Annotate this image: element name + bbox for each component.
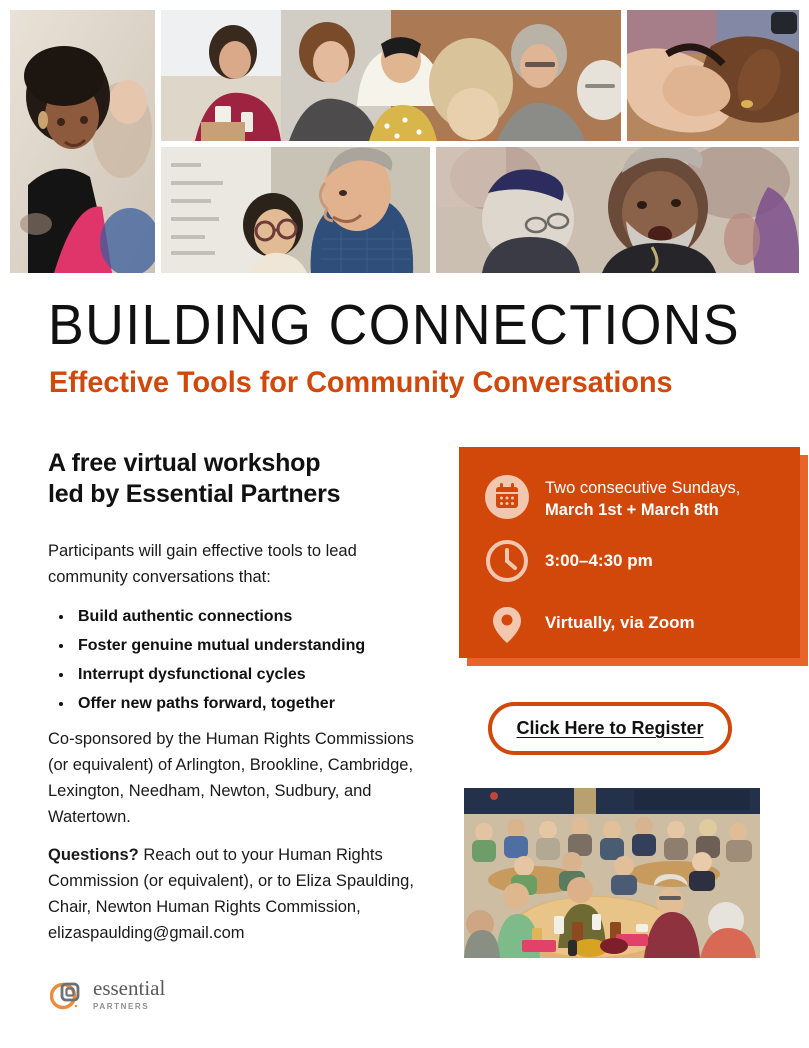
lede-line-1: A free virtual workshop <box>48 448 418 479</box>
calendar-icon <box>485 475 529 519</box>
questions-text: Questions? Reach out to your Human Right… <box>48 842 428 946</box>
workshop-lede: A free virtual workshop led by Essential… <box>48 448 418 510</box>
outcomes-list: Build authentic connections Foster genui… <box>48 602 474 718</box>
questions-label: Questions? <box>48 846 139 864</box>
list-item: Foster genuine mutual understanding <box>74 631 474 660</box>
logo-mark-icon <box>50 978 84 1012</box>
intro-paragraph: Participants will gain effective tools t… <box>48 538 420 590</box>
cosponsor-text: Co-sponsored by the Human Rights Commiss… <box>48 726 430 830</box>
photo-community-dinner <box>464 788 760 958</box>
event-details-box: Two consecutive Sundays, March 1st + Mar… <box>459 447 800 658</box>
photo-group-listening <box>161 10 621 141</box>
lede-line-2: led by Essential Partners <box>48 479 418 510</box>
photo-two-participants <box>161 147 430 273</box>
photo-men-conversation <box>436 147 799 273</box>
detail-location-text: Virtually, via Zoom <box>545 601 695 634</box>
list-item: Build authentic connections <box>74 602 474 631</box>
photo-collage <box>10 10 799 273</box>
page-title: BUILDING CONNECTIONS <box>48 296 725 354</box>
location-pin-icon <box>485 601 529 645</box>
list-item: Offer new paths forward, together <box>74 689 474 718</box>
register-button-label: Click Here to Register <box>516 718 703 739</box>
photo-speaker-woman <box>10 10 155 273</box>
photo-clasped-hands <box>627 10 799 141</box>
logo-tagline: PARTNERS <box>93 1001 165 1012</box>
detail-time-text: 3:00–4:30 pm <box>545 539 653 572</box>
list-item: Interrupt dysfunctional cycles <box>74 660 474 689</box>
detail-date-line2: March 1st + March 8th <box>545 499 740 521</box>
page-subtitle: Effective Tools for Community Conversati… <box>49 366 759 400</box>
logo-name: essential <box>93 978 165 999</box>
register-button[interactable]: Click Here to Register <box>488 702 732 755</box>
essential-partners-logo: essential PARTNERS <box>50 978 165 1012</box>
detail-date-line1: Two consecutive Sundays, <box>545 477 740 499</box>
detail-row-location: Virtually, via Zoom <box>459 601 800 645</box>
detail-date-text: Two consecutive Sundays, March 1st + Mar… <box>545 475 740 521</box>
detail-row-time: 3:00–4:30 pm <box>459 539 800 583</box>
clock-icon <box>485 539 529 583</box>
detail-row-date: Two consecutive Sundays, March 1st + Mar… <box>459 475 800 521</box>
logo-wordmark: essential PARTNERS <box>93 978 165 1012</box>
